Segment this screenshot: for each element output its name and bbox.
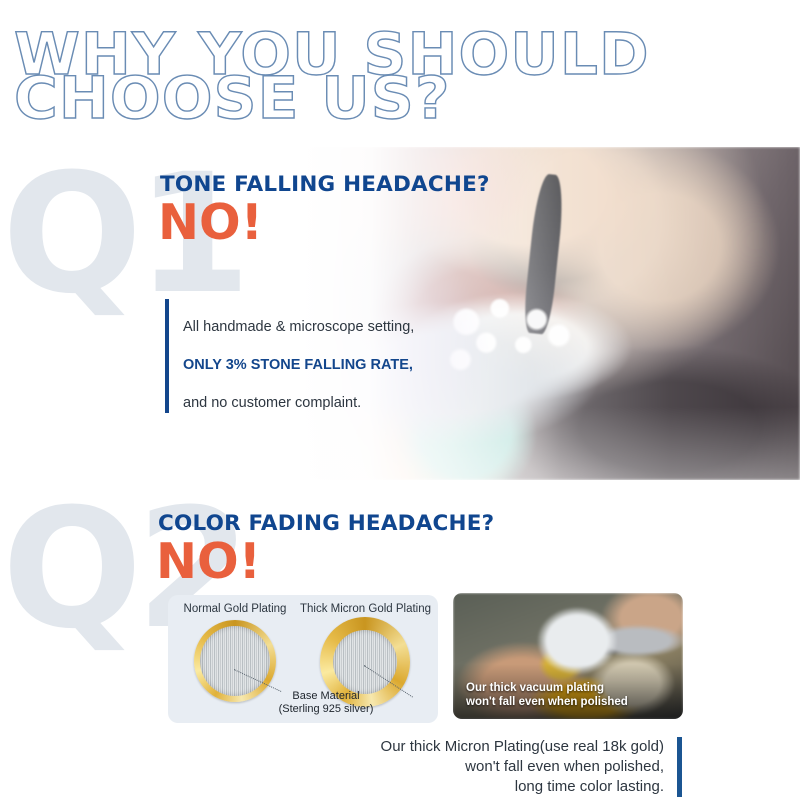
q1-answer: NO! <box>158 198 263 247</box>
q1-body-block: All handmade & microscope setting, ONLY … <box>165 299 414 413</box>
page-title: WHY YOU SHOULD CHOOSE US? <box>14 32 650 120</box>
q1-body-line-1: All handmade & microscope setting, <box>183 319 414 335</box>
infographic-page: WHY YOU SHOULD CHOOSE US? Q1 TONE FALLIN… <box>0 0 800 800</box>
q2-photo-caption: Our thick vacuum plating won't fall even… <box>466 682 628 709</box>
q2-answer: NO! <box>156 537 261 586</box>
q1-body-line-2: ONLY 3% STONE FALLING RATE, <box>183 357 413 373</box>
thick-plating-label: Thick Micron Gold Plating <box>300 603 430 615</box>
bottom-note-accent-bar <box>677 737 682 797</box>
normal-plating-label: Normal Gold Plating <box>176 603 294 615</box>
q2-photo: Our thick vacuum plating won't fall even… <box>453 593 683 719</box>
bottom-note-block: Our thick Micron Plating(use real 18k go… <box>381 737 682 797</box>
gold-plating-comparison-diagram: Normal Gold Plating Thick Micron Gold Pl… <box>168 595 438 723</box>
q1-body-text: All handmade & microscope setting, ONLY … <box>169 299 414 413</box>
silver-core <box>333 630 397 694</box>
q1-body-line-3: and no customer complaint. <box>183 395 361 411</box>
base-material-label: Base Material (Sterling 925 silver) <box>246 690 406 716</box>
bottom-note-text: Our thick Micron Plating(use real 18k go… <box>381 737 677 797</box>
silver-core <box>200 626 270 696</box>
